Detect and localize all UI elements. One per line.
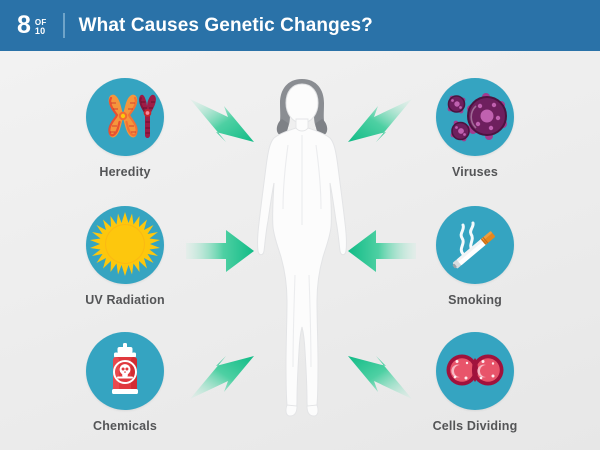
chromosome-xy-icon — [86, 78, 164, 156]
cause-label-viruses: Viruses — [410, 165, 540, 179]
cause-label-chemicals: Chemicals — [60, 419, 190, 433]
virus-particles-icon — [436, 78, 514, 156]
uv-radiation-icon-circle — [86, 206, 164, 284]
spray-can-poison-icon — [86, 332, 164, 410]
dividing-cells-icon — [436, 332, 514, 410]
cause-item-smoking[interactable]: Smoking — [410, 206, 540, 307]
page-title: What Causes Genetic Changes? — [79, 15, 373, 37]
slide-header: 8 OF 10 What Causes Genetic Changes? — [0, 0, 600, 51]
page-number: 8 — [17, 13, 31, 38]
arrow-bottom-left — [188, 347, 262, 401]
cells-dividing-icon-circle — [436, 332, 514, 410]
cause-item-cells-dividing[interactable]: Cells Dividing — [410, 332, 540, 433]
cause-label-cells-dividing: Cells Dividing — [410, 419, 540, 433]
female-body-silhouette — [252, 75, 352, 425]
arrow-left-icon — [344, 224, 418, 278]
arrow-middle-left — [184, 224, 258, 278]
infographic-canvas: Heredity UV Radiation — [0, 51, 600, 450]
arrow-top-left — [188, 97, 262, 151]
cause-item-heredity[interactable]: Heredity — [60, 78, 190, 179]
cause-item-uv-radiation[interactable]: UV Radiation — [60, 206, 190, 307]
cause-label-heredity: Heredity — [60, 165, 190, 179]
page-of-stack: OF 10 — [35, 18, 47, 38]
sun-icon — [86, 206, 164, 284]
center-figure — [252, 75, 352, 425]
cause-label-uv-radiation: UV Radiation — [60, 293, 190, 307]
total-pages: 10 — [35, 27, 47, 36]
arrow-right-icon — [184, 224, 258, 278]
arrow-up-right-icon — [188, 347, 262, 401]
cause-label-smoking: Smoking — [410, 293, 540, 307]
chemicals-icon-circle — [86, 332, 164, 410]
viruses-icon-circle — [436, 78, 514, 156]
cigarette-smoke-icon — [436, 206, 514, 284]
header-divider — [63, 13, 65, 38]
cause-item-viruses[interactable]: Viruses — [410, 78, 540, 179]
smoking-icon-circle — [436, 206, 514, 284]
arrow-down-right-icon — [188, 97, 262, 151]
heredity-icon-circle — [86, 78, 164, 156]
arrow-middle-right — [344, 224, 418, 278]
page-counter: 8 OF 10 — [17, 13, 47, 38]
cause-item-chemicals[interactable]: Chemicals — [60, 332, 190, 433]
